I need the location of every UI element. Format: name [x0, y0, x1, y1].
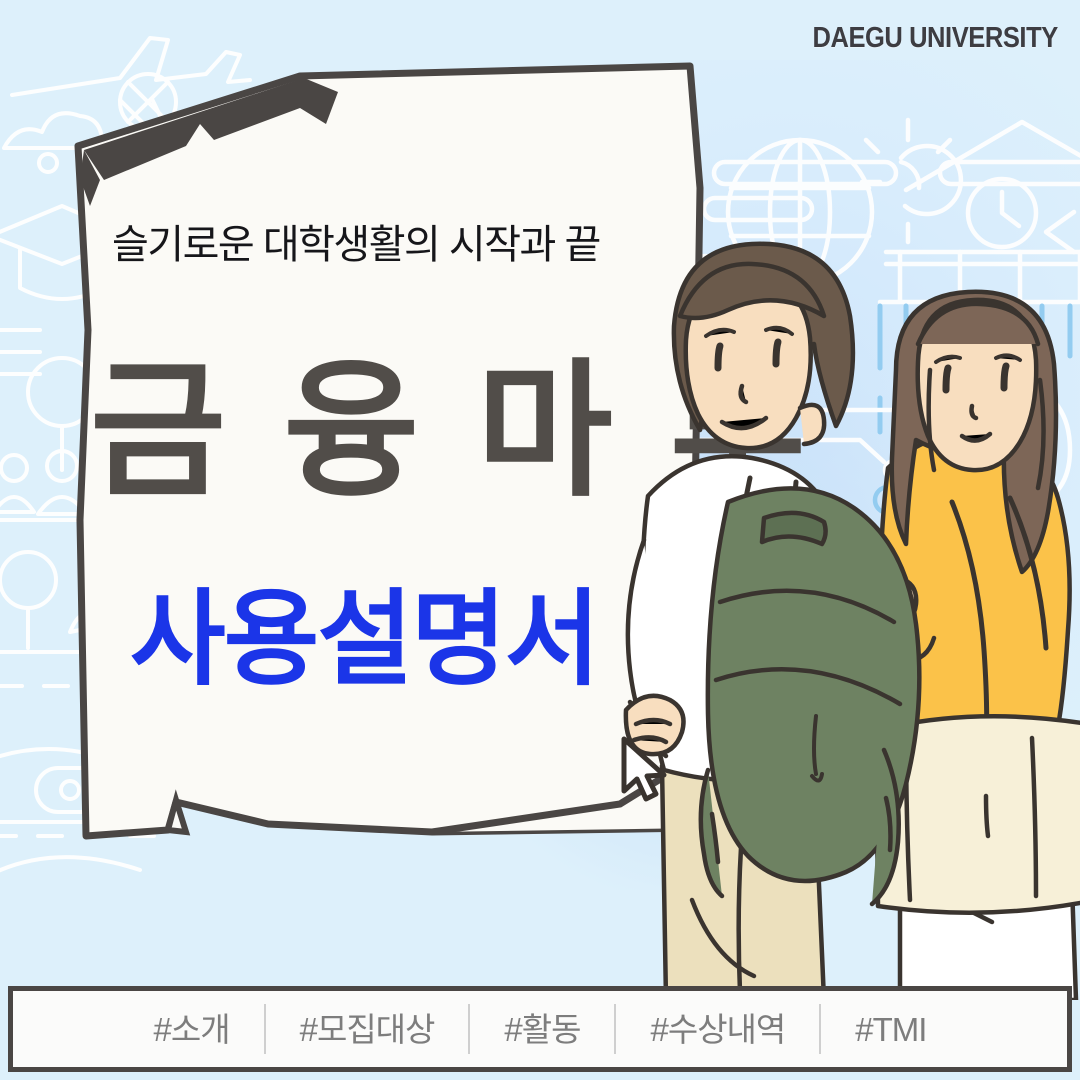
- nav-item-tmi[interactable]: #TMI: [821, 1013, 960, 1046]
- bottom-nav-bar: #소개 #모집대상 #활동 #수상내역 #TMI: [8, 986, 1072, 1072]
- male-student: [626, 244, 919, 1000]
- card-subtitle: 슬기로운 대학생활의 시작과 끝: [112, 212, 600, 270]
- poster-canvas: DAEGU UNIVERSITY: [0, 0, 1080, 1080]
- mouse-pointer-cursor: [618, 735, 674, 805]
- card-title-sub: 사용설명서: [130, 588, 598, 692]
- nav-item-intro[interactable]: #소개: [120, 1013, 264, 1046]
- nav-item-recruit[interactable]: #모집대상: [266, 1013, 469, 1046]
- students-illustration: [600, 210, 1080, 1000]
- daegu-university-logo: DAEGU UNIVERSITY: [813, 22, 1058, 55]
- nav-item-awards[interactable]: #수상내역: [616, 1013, 819, 1046]
- nav-item-activity[interactable]: #활동: [470, 1013, 614, 1046]
